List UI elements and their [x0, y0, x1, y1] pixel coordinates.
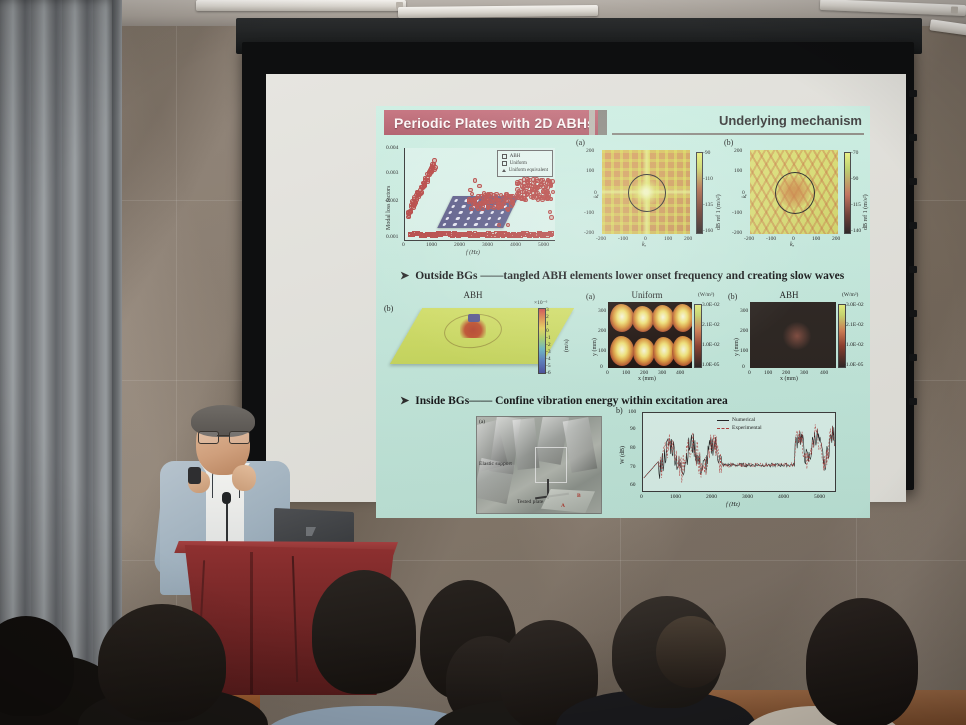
colorbar-tick: -110 [703, 176, 713, 182]
colorbar-tick: -115 [851, 202, 861, 208]
heatmap-area [750, 302, 836, 368]
abh-pit [445, 217, 450, 220]
colorbar [696, 152, 703, 234]
y-tick: 0.002 [386, 198, 398, 204]
x-tick: 2000 [706, 494, 717, 500]
slide-subtitle: Underlying mechanism [719, 113, 862, 128]
intensity-lobe [672, 336, 692, 366]
bullet-arrow-icon: ➤ [400, 269, 409, 282]
anechoic-wedge [563, 417, 598, 473]
legend-marker-square-icon [502, 161, 507, 166]
scatter-point [506, 223, 510, 227]
screen-tension-tab [909, 354, 917, 361]
y-tick: 200 [598, 328, 606, 334]
y-tick: 200 [740, 328, 748, 334]
colorbar-tick: 3 [546, 307, 549, 313]
scatter-point [550, 231, 554, 235]
y-tick: 100 [740, 348, 748, 354]
projection-screen: Periodic Plates with 2D ABHs Underlying … [236, 18, 922, 482]
x-tick: 100 [664, 236, 672, 242]
abh-pit [484, 223, 489, 226]
y-tick: -100 [584, 210, 594, 216]
panel-label: (b) [728, 292, 737, 301]
y-tick: 90 [630, 426, 636, 432]
legend-label: ABH [510, 153, 521, 160]
legend-line-dashed-icon [717, 428, 729, 429]
colorbar [844, 152, 851, 234]
chart-abh-plate-3d: ABH (b) ×10⁻⁶ 3 2 1 0 -1 -2 [382, 290, 578, 382]
colorbar-tick: -2 [546, 342, 551, 348]
colorbar-tick: -1.0E-05 [844, 362, 863, 368]
scatter-point [508, 195, 512, 199]
title-divider-dark [598, 110, 607, 135]
figure-title: ABH [438, 290, 508, 300]
colorbar [538, 308, 546, 374]
panel-label: (b) [724, 138, 733, 147]
x-tick: 200 [640, 370, 648, 376]
x-tick: -100 [618, 236, 628, 242]
scatter-point [420, 190, 424, 194]
colorbar-tick: 2.1E-02 [846, 322, 864, 328]
scatter-point [548, 210, 552, 214]
x-tick: 0 [606, 370, 609, 376]
intensity-lobe [610, 336, 634, 366]
x-axis-label: x (mm) [638, 376, 656, 382]
colorbar-label: dB ref 1 (m/s²) [716, 194, 722, 230]
legend-item: Uniform [502, 160, 548, 167]
ceiling-light-track [196, 0, 406, 11]
legend-label: Numerical [732, 416, 755, 424]
scatter-point [433, 165, 437, 169]
abh-pit [466, 217, 471, 220]
colorbar-tick: -3 [546, 349, 551, 355]
scatter-point [537, 185, 541, 189]
colorbar-label: (m/s) [564, 339, 570, 352]
heatmap-hotspot [778, 176, 810, 208]
colorbar-tick: -90 [703, 150, 710, 156]
microphone-icon [222, 492, 231, 504]
panel-label: (a) [576, 138, 585, 147]
x-tick: 1000 [670, 494, 681, 500]
audience-hair-bun [656, 616, 726, 688]
abh-pit [451, 205, 456, 208]
audience-head [312, 570, 416, 694]
x-tick: 200 [782, 370, 790, 376]
chart-wavenumber-map-a: (a) kᵧ kₓ 200 100 0 -100 -200 [576, 138, 718, 258]
y-tick: 300 [598, 308, 606, 314]
scatter-point [486, 197, 490, 201]
scatter-point [409, 210, 413, 214]
colorbar-tick: -135 [703, 202, 713, 208]
blinds-edge [112, 0, 122, 692]
x-tick: 0 [748, 370, 751, 376]
y-tick: 300 [740, 308, 748, 314]
scatter-point [515, 187, 519, 191]
abh-pit [448, 211, 453, 214]
colorbar-tick: -5 [546, 363, 551, 369]
x-tick: 1000 [426, 242, 437, 248]
colorbar [838, 304, 846, 368]
presentation-photo-scene: Periodic Plates with 2D ABHs Underlying … [0, 0, 966, 725]
y-tick: -100 [732, 210, 742, 216]
scatter-point [432, 158, 436, 162]
scatter-point [473, 178, 477, 182]
abh-pit [479, 211, 484, 214]
scatter-point [469, 198, 473, 202]
scatter-point [551, 190, 555, 194]
y-tick: 0 [742, 190, 745, 196]
photo-label-elastic-support: Elastic support [479, 461, 512, 467]
abh-pit [458, 211, 463, 214]
y-tick: 60 [630, 482, 636, 488]
colorbar-exponent: ×10⁻⁶ [534, 300, 547, 306]
title-divider-light [589, 110, 595, 135]
screen-tension-tab [909, 134, 917, 141]
legend-item: Numerical [717, 416, 762, 424]
heatmap-area [602, 150, 690, 234]
glasses-icon [198, 431, 248, 442]
lab-test-rig-photo: Elastic support Tested plate B A (a) [476, 416, 602, 514]
title-underline [612, 133, 864, 135]
x-tick: 4000 [778, 494, 789, 500]
intensity-hotspot [782, 322, 812, 350]
y-tick: 70 [630, 464, 636, 470]
frf-plot-area: Numerical Experimental [642, 412, 836, 492]
x-tick: 100 [812, 236, 820, 242]
track-cap [951, 6, 958, 13]
x-tick: -200 [744, 236, 754, 242]
y-tick: 0.001 [386, 234, 398, 240]
x-tick: 5000 [538, 242, 549, 248]
chart-wavenumber-map-b: (b) kᵧ kₓ 200 100 0 -100 -200 -200 - [724, 138, 866, 258]
x-tick: -100 [766, 236, 776, 242]
colorbar-tick: 3.0E-02 [846, 302, 864, 308]
audience-head [98, 604, 226, 722]
photo-label-tested-plate: Tested plate [517, 499, 543, 505]
abh-pit [490, 211, 495, 214]
y-tick: 0 [594, 190, 597, 196]
y-tick: 100 [586, 168, 594, 174]
colorbar-tick: -70 [851, 150, 858, 156]
x-axis-label: x (mm) [780, 376, 798, 382]
presenter-remote[interactable] [188, 467, 201, 484]
heatmap-hotspot [632, 178, 660, 206]
colorbar [694, 304, 702, 368]
bullet-outside-bgs: ➤ Outside BGs ——tangled ABH elements low… [400, 269, 844, 282]
abh-pit [497, 217, 502, 220]
scatter-point [520, 184, 524, 188]
screen-surface: Periodic Plates with 2D ABHs Underlying … [266, 74, 906, 502]
scatter-point [549, 215, 553, 219]
legend-item: Experimental [717, 424, 762, 432]
colorbar-tick: 2.1E-02 [702, 322, 720, 328]
colorbar-unit: (W/m²) [698, 292, 714, 298]
colorbar-tick: 3.0E-02 [702, 302, 720, 308]
scatter-point [477, 184, 481, 188]
abh-pit [461, 205, 466, 208]
y-tick: 100 [598, 348, 606, 354]
x-tick: 4000 [510, 242, 521, 248]
colorbar-tick: -90 [851, 176, 858, 182]
legend-item: ABH [502, 153, 548, 160]
chart-legend: Numerical Experimental [717, 416, 762, 432]
glasses-lens-right [229, 431, 250, 444]
y-tick: 0.004 [386, 145, 398, 151]
x-tick: 5000 [814, 494, 825, 500]
screen-tension-tab [909, 310, 917, 317]
legend-label: Uniform equivalent [509, 167, 548, 174]
abh-pit [469, 211, 474, 214]
x-tick: 0 [640, 494, 643, 500]
scatter-point [502, 202, 506, 206]
x-tick: 100 [764, 370, 772, 376]
page-title: Periodic Plates with 2D ABHs [384, 110, 605, 135]
y-tick: -200 [584, 230, 594, 236]
chart-frf-comparison: b) Numerical Experimental W (dB) f (Hz) … [616, 406, 866, 514]
scatter-point [491, 197, 495, 201]
panel-label: (b) [384, 304, 393, 313]
abh-pit [463, 223, 468, 226]
plate-excitation-point [468, 314, 480, 322]
colorbar-tick: -140 [851, 228, 861, 234]
scatter-point [525, 177, 529, 181]
x-tick: -200 [596, 236, 606, 242]
window-blinds [0, 0, 118, 692]
x-axis-label: f (Hz) [466, 250, 480, 256]
y-tick: 100 [734, 168, 742, 174]
tested-plate-surface [541, 489, 595, 513]
colorbar-tick: 1.0E-02 [846, 342, 864, 348]
x-tick: 200 [832, 236, 840, 242]
curve-numerical [644, 426, 835, 479]
x-axis-label: kₓ [642, 242, 646, 248]
photo-label-b: B [577, 493, 581, 499]
y-tick: 0.003 [386, 170, 398, 176]
intensity-lobe [633, 338, 655, 366]
scatter-point [505, 207, 509, 211]
x-tick: 400 [820, 370, 828, 376]
scatter-point [533, 184, 537, 188]
x-tick: 0 [644, 236, 647, 242]
scatter-point [522, 189, 526, 193]
y-tick: 200 [586, 148, 594, 154]
scatter-point [531, 191, 535, 195]
plate-frame [535, 447, 567, 483]
colorbar-tick: -6 [546, 370, 551, 376]
colorbar-tick: 2 [546, 314, 549, 320]
podium-edge [250, 552, 253, 694]
scatter-point [482, 191, 486, 195]
legend-marker-triangle-icon [502, 169, 506, 172]
legend-label: Uniform [510, 160, 527, 167]
intensity-lobe [672, 304, 692, 332]
scatter-point [494, 192, 498, 196]
intensity-lobe [632, 306, 654, 332]
intensity-lobe [652, 305, 674, 332]
legend-item: Uniform equivalent [502, 167, 548, 174]
audience-head [806, 598, 918, 725]
abh-pit [453, 223, 458, 226]
chart-intensity-abh: (b) ABH y (mm) x (mm) 300 200 100 0 0 10… [724, 290, 866, 382]
presenter-hand-right [232, 465, 256, 491]
photo-label-a: A [561, 503, 565, 509]
abh-pit [442, 223, 447, 226]
wall-seam [0, 560, 966, 561]
y-tick: 100 [628, 409, 636, 415]
heatmap-area [750, 150, 838, 234]
abh-pit [487, 217, 492, 220]
slide-title-band: Periodic Plates with 2D ABHs Underlying … [376, 110, 870, 136]
scatter-point [470, 192, 474, 196]
figure-title: ABH [754, 290, 824, 300]
scatter-point [504, 192, 508, 196]
scatter-point [533, 180, 537, 184]
presentation-slide: Periodic Plates with 2D ABHs Underlying … [376, 106, 870, 518]
y-axis-label: Modal loss factors [386, 186, 392, 230]
abh-pit [455, 217, 460, 220]
screen-tension-tab [909, 90, 917, 97]
colorbar-unit: (W/m²) [842, 292, 858, 298]
x-tick: 200 [684, 236, 692, 242]
panel-label: (a) [479, 419, 485, 425]
glasses-bridge [217, 435, 229, 436]
screen-tension-tab [909, 178, 917, 185]
colorbar-tick: 1 [546, 321, 549, 327]
bullet-arrow-icon: ➤ [400, 394, 409, 407]
heatmap-area [608, 302, 692, 368]
x-tick: 2000 [454, 242, 465, 248]
screen-tension-tab [909, 266, 917, 273]
chart-legend: ABH Uniform Uniform equivalent [497, 150, 553, 177]
colorbar-label: dB ref 1 (m/s²) [863, 194, 869, 230]
scatter-point [537, 193, 541, 197]
chart-intensity-uniform: (a) Uniform y (mm) [582, 290, 720, 382]
colorbar-tick: -160 [703, 228, 713, 234]
scatter-point [469, 206, 473, 210]
ceiling-light-track [398, 5, 598, 18]
screen-tension-tab [909, 222, 917, 229]
screen-border: Periodic Plates with 2D ABHs Underlying … [242, 42, 914, 490]
scatter-point [468, 188, 472, 192]
scatter-plot-area: ABH Uniform Uniform equivalent [404, 148, 555, 241]
x-tick: 3000 [482, 242, 493, 248]
x-axis-label: f (Hz) [726, 502, 740, 508]
panel-label: (a) [586, 292, 595, 301]
abh-pit [473, 223, 478, 226]
panel-label: b) [616, 406, 623, 415]
figure-title: Uniform [612, 290, 682, 300]
colorbar-tick: -1 [546, 335, 551, 341]
legend-marker-square-icon [502, 154, 507, 159]
colorbar-tick: -1.0E-05 [700, 362, 719, 368]
x-tick: 400 [676, 370, 684, 376]
x-tick: 300 [658, 370, 666, 376]
y-tick: -200 [732, 230, 742, 236]
intensity-lobe [610, 304, 634, 332]
colorbar-tick: 1.0E-02 [702, 342, 720, 348]
scatter-point [549, 197, 553, 201]
abh-pit [500, 211, 505, 214]
bullet-text: Outside BGs ——tangled ABH elements lower… [415, 270, 844, 282]
x-axis-label: kₓ [790, 242, 794, 248]
screen-tension-tab [909, 398, 917, 405]
y-tick: 0 [600, 364, 603, 370]
y-tick: 80 [630, 445, 636, 451]
y-tick: 0 [742, 364, 745, 370]
colorbar-tick: -4 [546, 356, 551, 362]
x-tick: 0 [792, 236, 795, 242]
glasses-lens-left [198, 431, 219, 444]
y-tick: 200 [734, 148, 742, 154]
legend-label: Experimental [732, 424, 762, 432]
abh-pit [454, 199, 459, 202]
x-tick: 3000 [742, 494, 753, 500]
y-axis-label: W (dB) [620, 446, 626, 464]
x-tick: 100 [622, 370, 630, 376]
colorbar-tick: 0 [546, 328, 549, 334]
legend-line-solid-icon [717, 420, 729, 421]
chart-modal-loss-factors: ABH Uniform Uniform equivalent Modal los… [384, 138, 570, 258]
x-tick: 0 [402, 242, 405, 248]
abh-pit [476, 217, 481, 220]
x-tick: 300 [800, 370, 808, 376]
